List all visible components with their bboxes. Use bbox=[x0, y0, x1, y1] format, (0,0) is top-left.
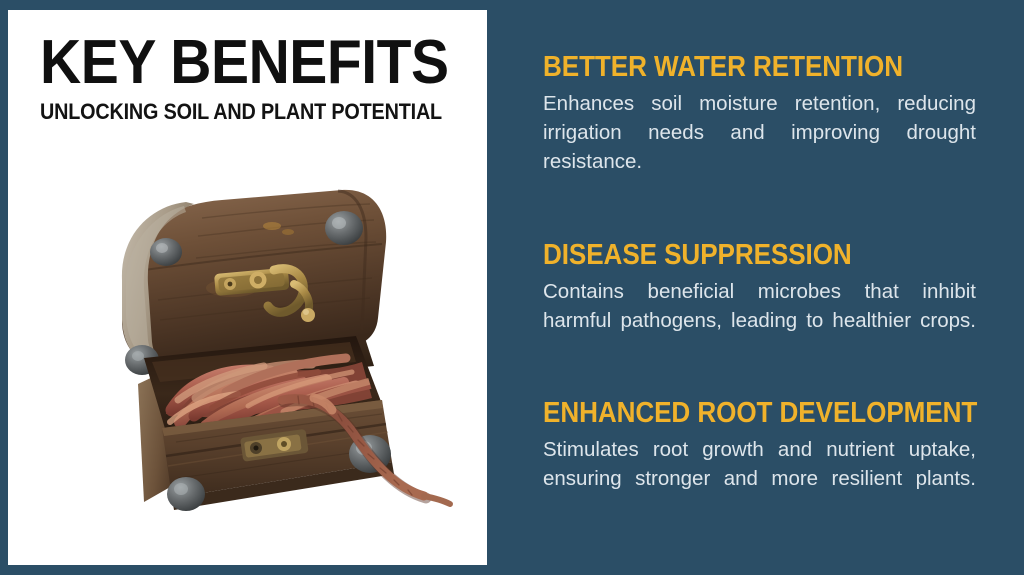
benefit-text-disease-suppression: Contains beneficial microbes that inhibi… bbox=[543, 277, 976, 364]
page-title: KEY BENEFITS bbox=[40, 36, 426, 89]
slide-canvas: KEY BENEFITS UNLOCKING SOIL AND PLANT PO… bbox=[0, 0, 1024, 575]
left-white-card: KEY BENEFITS UNLOCKING SOIL AND PLANT PO… bbox=[8, 10, 487, 565]
benefit-heading-water-retention: BETTER WATER RETENTION bbox=[543, 52, 934, 82]
benefit-text-root-development: Stimulates root growth and nutrient upta… bbox=[543, 435, 976, 522]
title-block: KEY BENEFITS UNLOCKING SOIL AND PLANT PO… bbox=[40, 36, 460, 123]
benefit-block-water-retention: BETTER WATER RETENTION Enhances soil moi… bbox=[543, 52, 977, 206]
benefit-heading-disease-suppression: DISEASE SUPPRESSION bbox=[543, 240, 934, 270]
benefits-panel: BETTER WATER RETENTION Enhances soil moi… bbox=[543, 52, 977, 523]
benefit-heading-root-development: ENHANCED ROOT DEVELOPMENT bbox=[543, 398, 934, 428]
benefit-block-disease-suppression: DISEASE SUPPRESSION Contains beneficial … bbox=[543, 240, 977, 364]
treasure-chest-image bbox=[26, 160, 466, 560]
benefit-text-water-retention: Enhances soil moisture retention, reduci… bbox=[543, 89, 976, 205]
page-subtitle: UNLOCKING SOIL AND PLANT POTENTIAL bbox=[40, 101, 418, 123]
benefit-block-root-development: ENHANCED ROOT DEVELOPMENT Stimulates roo… bbox=[543, 398, 977, 522]
